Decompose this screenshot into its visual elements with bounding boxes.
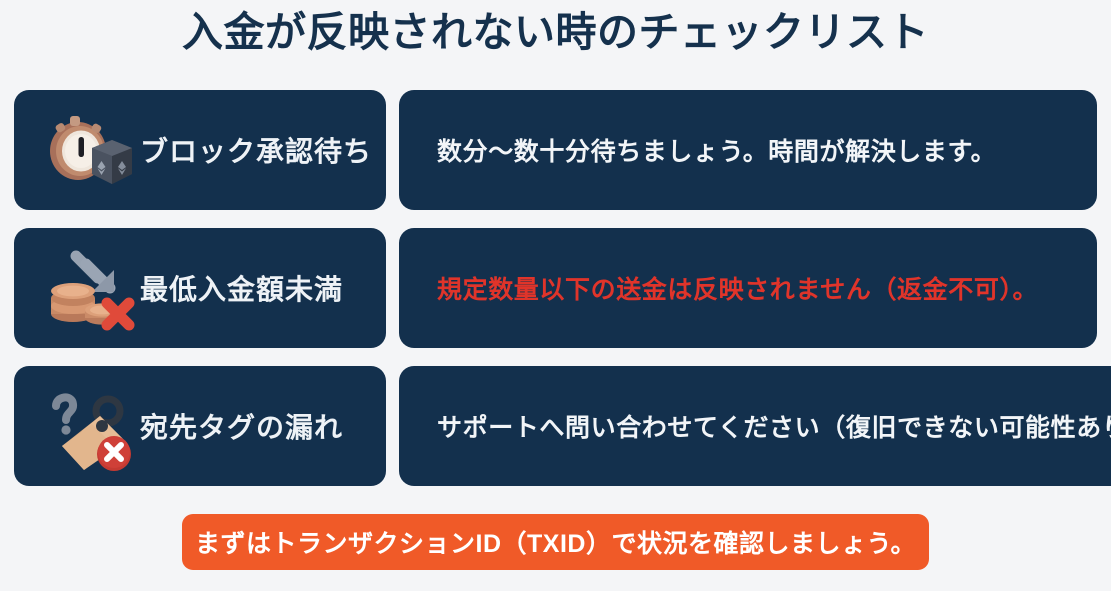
checklist-row: 宛先タグの漏れ サポートへ問い合わせてください（復旧できない可能性あり）。 xyxy=(14,366,1097,486)
checklist-item-description: サポートへ問い合わせてください（復旧できない可能性あり）。 xyxy=(437,408,1111,444)
checklist-rows: ブロック承認待ち 数分〜数十分待ちましょう。時間が解決します。 xyxy=(14,90,1097,486)
checklist-item-label-card: 宛先タグの漏れ xyxy=(14,366,386,486)
checklist-item-desc-card: 規定数量以下の送金は反映されません（返金不可）。 xyxy=(399,228,1097,348)
page-title: 入金が反映されない時のチェックリスト xyxy=(0,6,1111,59)
checklist-item-label: 最低入金額未満 xyxy=(140,268,343,308)
checklist-item-label: ブロック承認待ち xyxy=(140,130,372,170)
checklist-item-desc-card: サポートへ問い合わせてください（復旧できない可能性あり）。 xyxy=(399,366,1111,486)
checklist-row: 最低入金額未満 規定数量以下の送金は反映されません（返金不可）。 xyxy=(14,228,1097,348)
checklist-item-description: 規定数量以下の送金は反映されません（返金不可）。 xyxy=(437,270,1038,306)
checklist-item-label: 宛先タグの漏れ xyxy=(140,406,343,446)
checklist-item-label-card: ブロック承認待ち xyxy=(14,90,386,210)
cta-banner[interactable]: まずはトランザクションID（TXID）で状況を確認しましょう。 xyxy=(182,514,929,570)
stopwatch-eth-block-icon xyxy=(36,102,140,198)
checklist-row: ブロック承認待ち 数分〜数十分待ちましょう。時間が解決します。 xyxy=(14,90,1097,210)
coins-down-arrow-x-icon xyxy=(36,240,140,336)
tag-question-x-icon xyxy=(36,378,140,474)
checklist-item-desc-card: 数分〜数十分待ちましょう。時間が解決します。 xyxy=(399,90,1097,210)
checklist-infographic: 入金が反映されない時のチェックリスト xyxy=(0,0,1111,591)
checklist-item-label-card: 最低入金額未満 xyxy=(14,228,386,348)
cta-label: まずはトランザクションID（TXID）で状況を確認しましょう。 xyxy=(195,524,916,560)
checklist-item-description: 数分〜数十分待ちましょう。時間が解決します。 xyxy=(437,132,996,168)
